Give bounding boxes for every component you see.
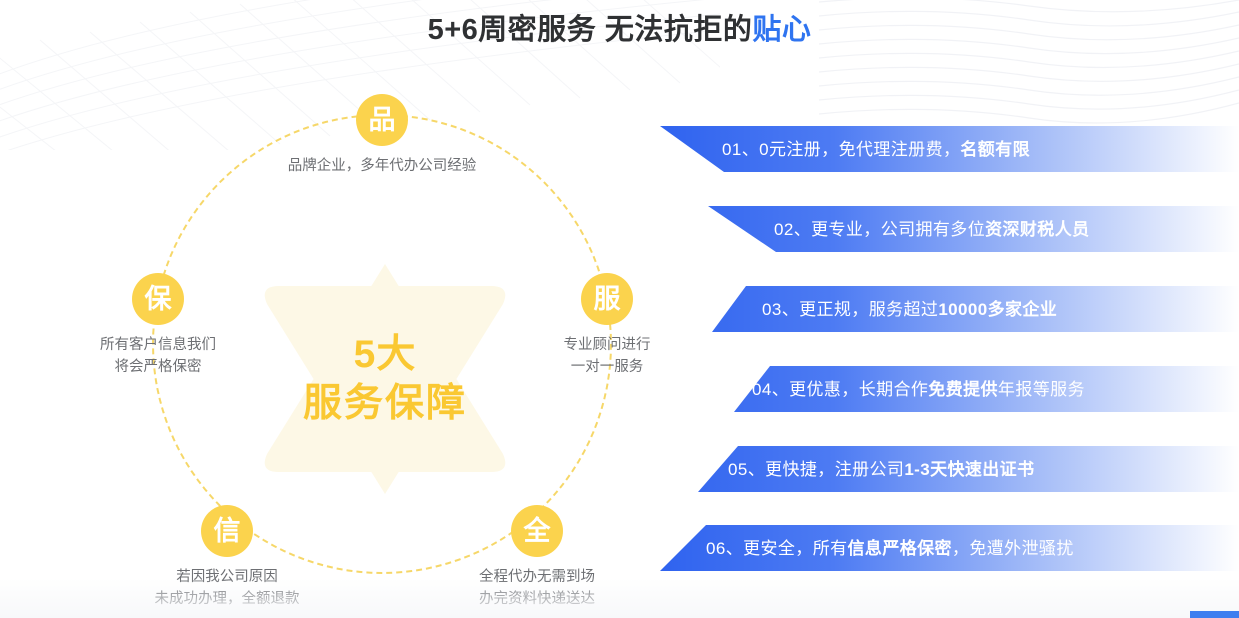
benefit-banner-02[interactable]: 02、更专业，公司拥有多位资深财税人员 — [660, 206, 1239, 252]
node-caption-xin: 若因我公司原因 未成功办理，全额退款 — [112, 566, 342, 611]
banner-text-04: 04、更优惠，长期合作免费提供年报等服务 — [660, 381, 1085, 398]
banner-after-06: ，免遭外泄骚扰 — [952, 539, 1074, 558]
banner-bold-05: 1-3天快速出证书 — [904, 460, 1034, 479]
banner-number-03: 03、 — [762, 300, 799, 319]
node-badge-bao: 保 — [132, 273, 184, 325]
banner-bold-02: 资深财税人员 — [985, 220, 1089, 239]
benefit-banner-04[interactable]: 04、更优惠，长期合作免费提供年报等服务 — [660, 366, 1239, 412]
banner-before-05: 更快捷，注册公司 — [765, 460, 904, 479]
banner-after-04: 年报等服务 — [998, 380, 1085, 399]
banner-text-06: 06、更安全，所有信息严格保密，免遭外泄骚扰 — [660, 540, 1074, 557]
center-label-line2: 服务保障 — [303, 384, 467, 423]
node-badge-fu: 服 — [581, 273, 633, 325]
five-guarantees-diagram: 5大 服务保障 品 品牌企业，多年代办公司经验 保 所有客户信息我们 将会严格保… — [0, 62, 660, 618]
banner-before-04: 更优惠，长期合作 — [789, 380, 928, 399]
banner-number-02: 02、 — [774, 220, 811, 239]
page-title-highlight: 贴心 — [752, 14, 811, 46]
diagram-node-quan[interactable]: 全 全程代办无需到场 办完资料快递送达 — [422, 505, 652, 611]
banner-number-04: 04、 — [752, 380, 789, 399]
node-caption-bao: 所有客户信息我们 将会严格保密 — [43, 334, 273, 379]
banner-before-06: 更安全，所有 — [743, 539, 847, 558]
node-badge-xin: 信 — [201, 505, 253, 557]
benefit-banner-05[interactable]: 05、更快捷，注册公司1-3天快速出证书 — [660, 446, 1239, 492]
banner-bold-04: 免费提供 — [928, 380, 998, 399]
service-benefits-list: 01、0元注册，免代理注册费，名额有限 02、更专业，公司拥有多位资深财税人员 … — [660, 118, 1239, 588]
center-label-line1: 5大 — [354, 335, 417, 374]
node-badge-quan: 全 — [511, 505, 563, 557]
benefit-banner-01[interactable]: 01、0元注册，免代理注册费，名额有限 — [660, 126, 1239, 172]
benefit-banner-06[interactable]: 06、更安全，所有信息严格保密，免遭外泄骚扰 — [660, 525, 1239, 571]
banner-before-01: 0元注册，免代理注册费， — [759, 140, 960, 159]
banner-before-02: 更专业，公司拥有多位 — [811, 220, 985, 239]
page-title: 5+6周密服务 无法抗拒的贴心 — [0, 6, 1239, 48]
node-caption-pin: 品牌企业，多年代办公司经验 — [267, 155, 497, 177]
banner-number-01: 01、 — [722, 140, 759, 159]
diagram-node-bao[interactable]: 保 所有客户信息我们 将会严格保密 — [43, 273, 273, 379]
banner-before-03: 更正规，服务超过 — [799, 300, 938, 319]
banner-number-06: 06、 — [706, 539, 743, 558]
banner-bold-03: 10000多家企业 — [938, 300, 1057, 319]
bottom-accent-bar — [1190, 611, 1239, 618]
node-badge-pin: 品 — [356, 94, 408, 146]
banner-bold-06: 信息严格保密 — [848, 539, 952, 558]
banner-text-01: 01、0元注册，免代理注册费，名额有限 — [660, 141, 1030, 158]
banner-text-05: 05、更快捷，注册公司1-3天快速出证书 — [660, 461, 1034, 478]
diagram-node-xin[interactable]: 信 若因我公司原因 未成功办理，全额退款 — [112, 505, 342, 611]
banner-text-03: 03、更正规，服务超过10000多家企业 — [660, 301, 1057, 318]
banner-number-05: 05、 — [728, 460, 765, 479]
page-title-plain: 5+6周密服务 无法抗拒的 — [428, 14, 753, 46]
node-caption-quan: 全程代办无需到场 办完资料快递送达 — [422, 566, 652, 611]
center-label: 5大 服务保障 — [245, 254, 525, 504]
diagram-node-pin[interactable]: 品 品牌企业，多年代办公司经验 — [267, 94, 497, 177]
benefit-banner-03[interactable]: 03、更正规，服务超过10000多家企业 — [660, 286, 1239, 332]
banner-bold-01: 名额有限 — [960, 140, 1030, 159]
banner-text-02: 02、更专业，公司拥有多位资深财税人员 — [660, 221, 1090, 238]
